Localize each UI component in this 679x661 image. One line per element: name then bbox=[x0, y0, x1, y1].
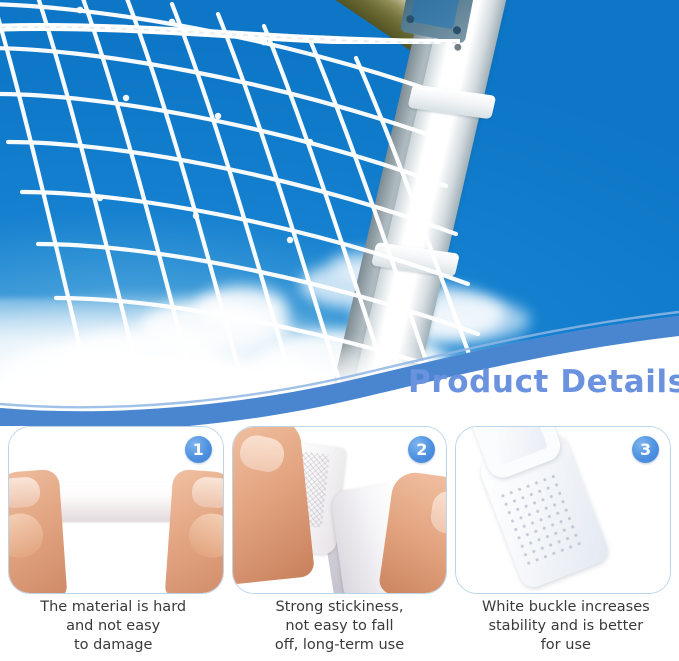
detail-card-1[interactable]: 1 bbox=[8, 426, 224, 594]
card-captions: The material is hard and not easy to dam… bbox=[0, 598, 679, 661]
left-thumb bbox=[9, 512, 45, 559]
net-top-rope bbox=[0, 22, 460, 44]
caption-3: White buckle increases stability and is … bbox=[453, 598, 679, 661]
hero-photo bbox=[0, 0, 679, 412]
hero-photo-clip bbox=[0, 0, 679, 412]
fingernail bbox=[237, 432, 287, 474]
fingernail bbox=[429, 489, 446, 535]
page-title: Product Details bbox=[408, 364, 679, 400]
right-hand bbox=[164, 469, 222, 593]
caption-2: Strong stickiness, not easy to fall off,… bbox=[226, 598, 452, 661]
right-thumb bbox=[187, 512, 223, 559]
detail-cards: 1 2 3 bbox=[0, 426, 679, 594]
left-hand bbox=[9, 469, 67, 593]
step-badge-1: 1 bbox=[185, 436, 212, 463]
detail-card-2[interactable]: 2 bbox=[232, 426, 448, 594]
caption-1: The material is hard and not easy to dam… bbox=[0, 598, 226, 661]
fingernail bbox=[191, 476, 223, 509]
product-details-infographic: Product Details 1 bbox=[0, 0, 679, 661]
fingernail bbox=[9, 476, 41, 509]
detail-card-3[interactable]: 3 bbox=[455, 426, 671, 594]
step-badge-3: 3 bbox=[632, 436, 659, 463]
